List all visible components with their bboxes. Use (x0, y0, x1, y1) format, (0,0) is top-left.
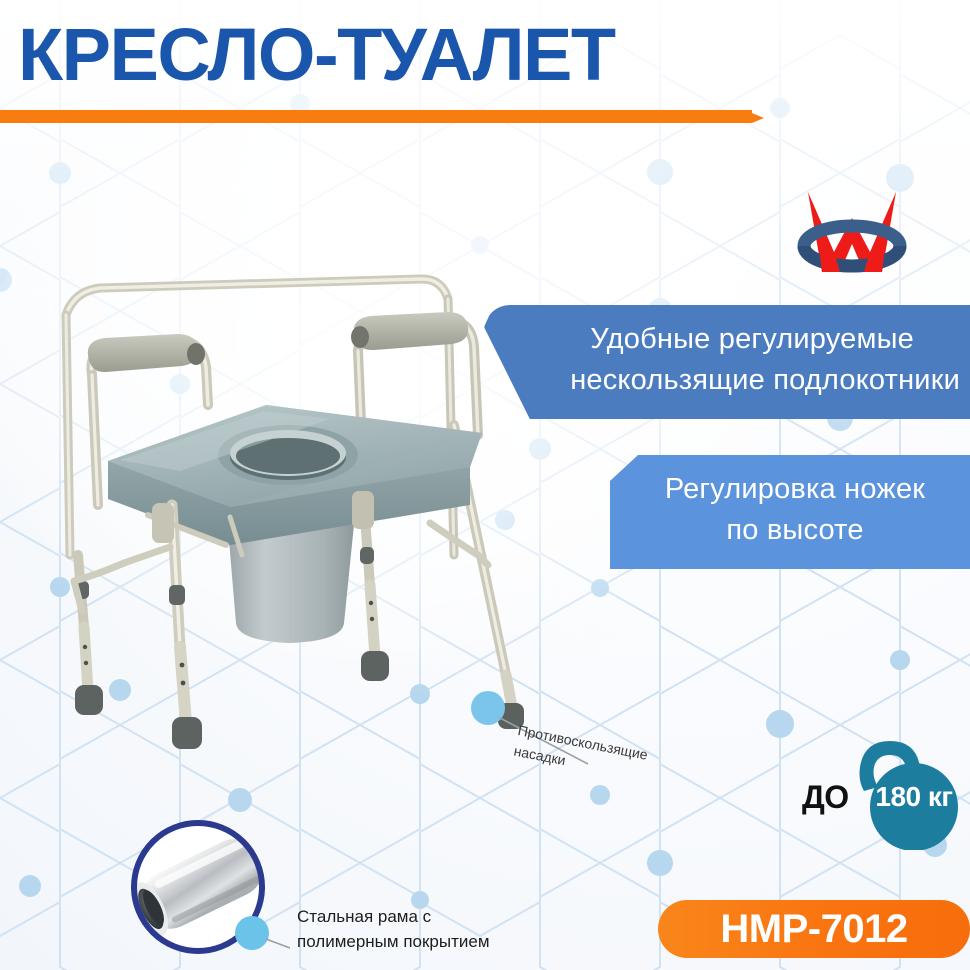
callout-leader-line (266, 939, 290, 951)
rubber-tip (361, 651, 389, 681)
feature-line-2: по высоте (636, 510, 954, 551)
model-code-badge: HMP-7012 (658, 900, 970, 958)
feature-line-1: Удобные регулируемые (526, 319, 960, 360)
callout-dot-icon (471, 691, 505, 725)
brand-logo (782, 178, 922, 288)
page-title: КРЕСЛО-ТУАЛЕТ (18, 18, 615, 92)
callout-dot-icon (235, 916, 269, 950)
rubber-tip (75, 685, 103, 715)
weight-value-label: 180 кг (858, 781, 970, 813)
callout-line-2: полимерным покрытием (297, 930, 490, 955)
poster-canvas: КРЕСЛО-ТУАЛЕТ (0, 0, 970, 970)
feature-badge-leg-height: Регулировка ножек по высоте (610, 455, 970, 569)
weight-prefix-label: ДО (802, 779, 849, 816)
callout-line-1: Стальная рама с (297, 905, 490, 930)
armrest-pad-left (88, 334, 198, 372)
model-code-label: HMP-7012 (720, 907, 907, 952)
feature-line-2: нескользящие подлокотники (526, 360, 960, 401)
steel-tube-inset (120, 815, 290, 965)
feature-badge-armrests: Удобные регулируемые нескользящие подлок… (484, 305, 970, 419)
callout-steel-frame: Стальная рама с полимерным покрытием (297, 905, 490, 954)
rubber-tip (172, 717, 202, 749)
feature-line-1: Регулировка ножек (636, 469, 954, 510)
title-underline-rule (0, 110, 752, 123)
max-weight-badge: ДО 180 кг (802, 735, 970, 850)
